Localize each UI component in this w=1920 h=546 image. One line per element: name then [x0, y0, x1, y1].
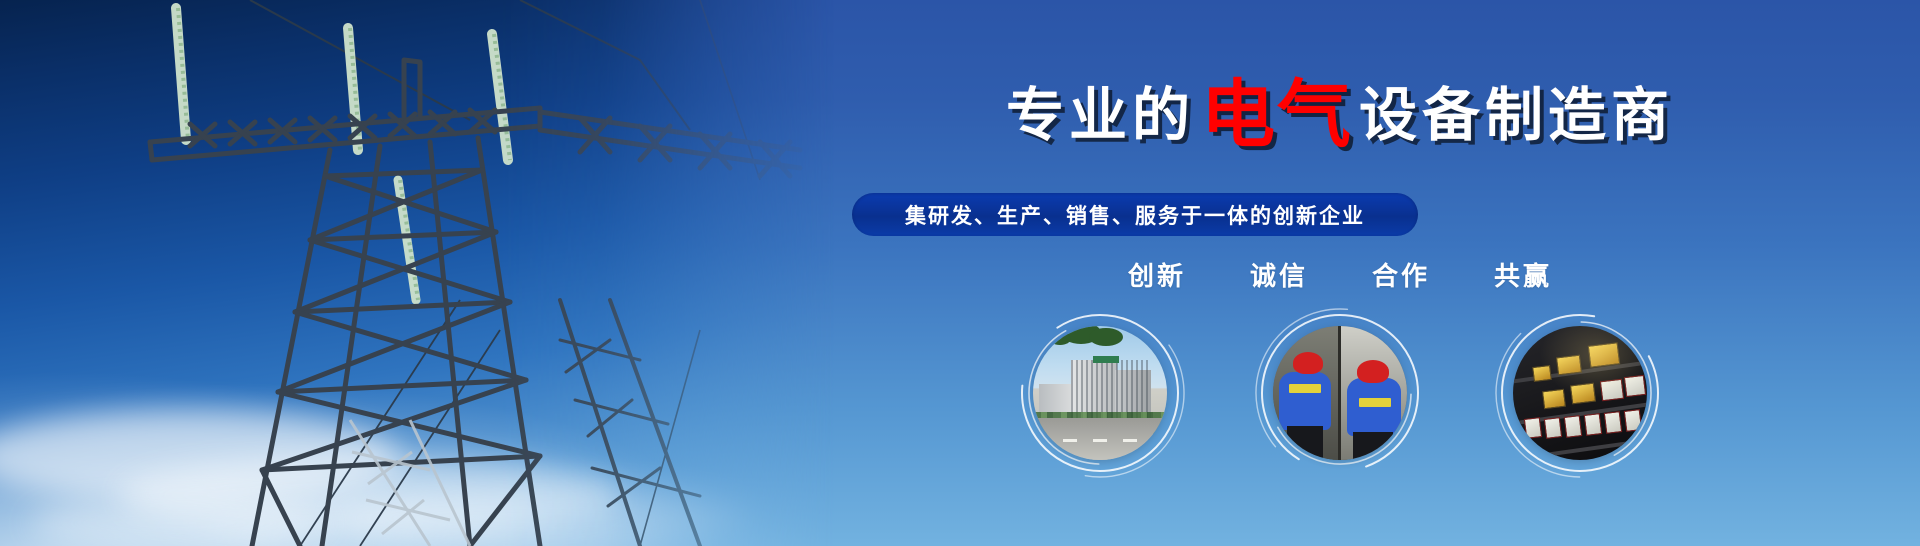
photo-circle-office-building: [1025, 318, 1175, 468]
keyword-row: 创新 诚信 合作 共赢: [760, 256, 1920, 293]
promo-banner: 专业的电气设备制造商 集研发、生产、销售、服务于一体的创新企业 创新 诚信 合作…: [0, 0, 1920, 546]
photo-circle-row: [760, 318, 1920, 468]
photo-circle-technicians: [1265, 318, 1415, 468]
circle-photo-certificates: [1513, 326, 1647, 460]
headline-accent: 电气: [1201, 73, 1353, 156]
circle-photo-office-building: [1033, 326, 1167, 460]
keyword-integrity: 诚信: [1250, 256, 1308, 293]
keyword-innovation: 创新: [1128, 256, 1186, 293]
keyword-winwin: 共赢: [1494, 256, 1552, 293]
circle-photo-technicians: [1273, 326, 1407, 460]
banner-headline: 专业的电气设备制造商: [760, 78, 1920, 152]
headline-prefix: 专业的: [1006, 83, 1195, 148]
photo-circle-certificates: [1505, 318, 1655, 468]
tagline-pill: 集研发、生产、销售、服务于一体的创新企业: [852, 193, 1418, 236]
keyword-cooperation: 合作: [1372, 256, 1430, 293]
tower-photo: [0, 0, 860, 546]
transmission-tower-icon: [0, 0, 860, 546]
headline-suffix: 设备制造商: [1359, 83, 1674, 148]
tagline-text: 集研发、生产、销售、服务于一体的创新企业: [905, 200, 1365, 230]
banner-content: 专业的电气设备制造商 集研发、生产、销售、服务于一体的创新企业 创新 诚信 合作…: [760, 0, 1920, 546]
